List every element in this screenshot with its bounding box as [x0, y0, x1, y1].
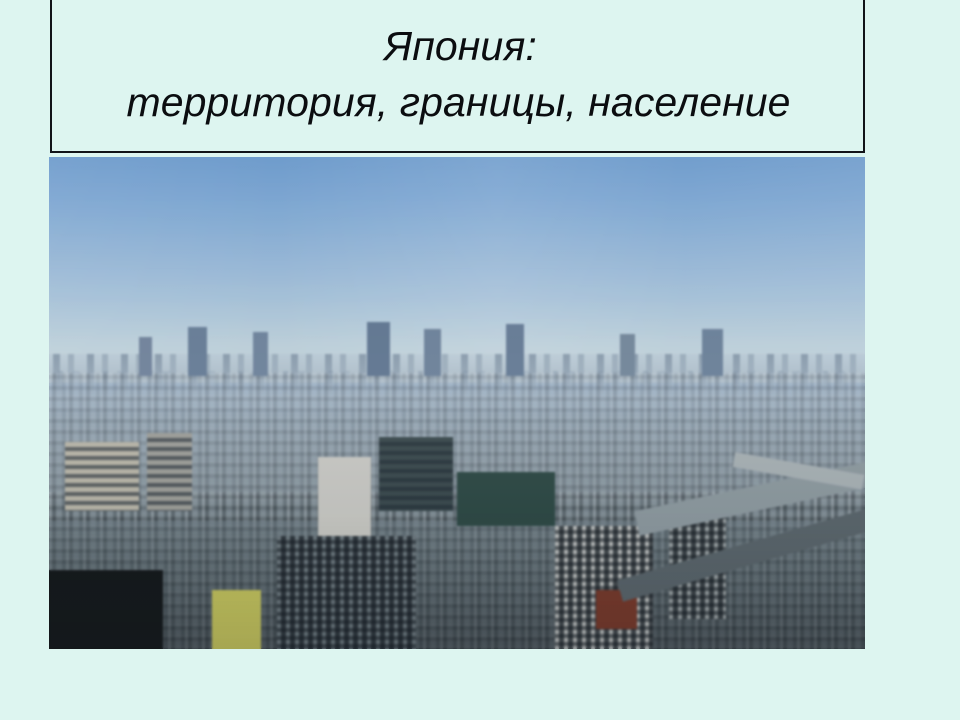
- presentation-slide: Япония: территория, границы, население: [0, 0, 960, 720]
- photo-building-dark-center: [379, 437, 452, 511]
- photo-tower-center-c: [506, 324, 524, 376]
- photo-yellow-structure: [212, 590, 261, 649]
- slide-title-box: Япония: территория, границы, население: [50, 0, 865, 153]
- photo-tower-right-a: [620, 334, 635, 376]
- photo-tower-center-a: [367, 322, 390, 376]
- photo-building-white-center: [318, 457, 371, 546]
- photo-tower-left-b: [188, 327, 208, 376]
- photo-apartment-block-foreground: [277, 536, 416, 649]
- photo-tower-left-c: [253, 332, 268, 376]
- slide-title-line-1: Япония:: [384, 18, 537, 74]
- photo-tower-right-b: [702, 329, 723, 376]
- photo-building-grey-left: [147, 433, 192, 512]
- photo-tower-left-a: [139, 337, 152, 376]
- photo-rooftop-green-center: [457, 472, 555, 526]
- photo-building-beige-left: [65, 442, 138, 511]
- slide-photo-cityscape: [49, 157, 865, 649]
- photo-tower-center-b: [424, 329, 440, 376]
- slide-title-line-2: территория, границы, население: [126, 74, 790, 130]
- photo-dark-rooftop-left: [49, 570, 163, 649]
- photo-sky-haze: [49, 157, 865, 383]
